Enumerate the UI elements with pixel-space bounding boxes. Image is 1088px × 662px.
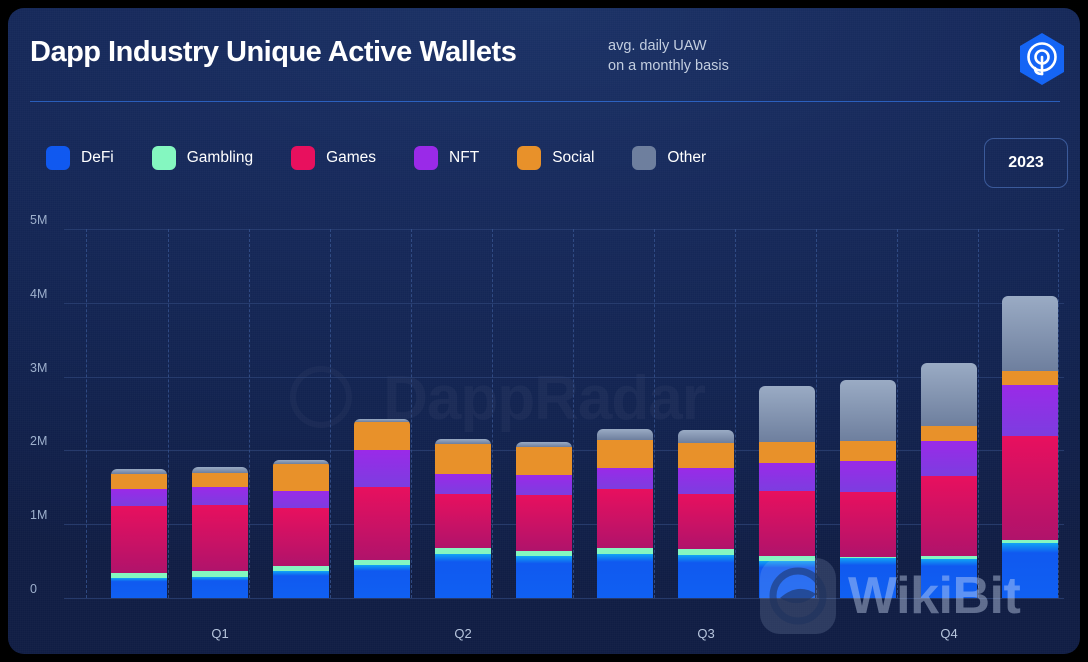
bar-segment-games — [435, 494, 491, 548]
bar-segment-defi — [597, 554, 653, 598]
legend-swatch-nft — [414, 146, 438, 170]
legend-swatch-other — [632, 146, 656, 170]
x-axis-tick-label-q2: Q2 — [454, 626, 471, 641]
legend-swatch-social — [517, 146, 541, 170]
bar-segment-games — [1002, 436, 1058, 540]
bar-segment-social — [354, 422, 410, 449]
gridline-vertical — [330, 229, 331, 598]
bar-mar[interactable] — [273, 460, 329, 598]
bar-segment-other — [759, 386, 815, 442]
dappradar-hexagon-logo-icon — [1013, 30, 1071, 88]
bar-may[interactable] — [435, 439, 491, 598]
gridline-horizontal — [64, 303, 1064, 304]
bar-segment-social — [273, 464, 329, 491]
bar-oct[interactable] — [840, 380, 896, 598]
y-axis-tick-label: 3M — [30, 361, 47, 375]
legend-label-gambling: Gambling — [187, 149, 253, 167]
legend-item-social[interactable]: Social — [517, 146, 594, 170]
bar-segment-games — [678, 494, 734, 549]
gridline-vertical — [411, 229, 412, 598]
bar-segment-social — [678, 443, 734, 468]
y-axis-tick-label: 4M — [30, 287, 47, 301]
bar-jan[interactable] — [111, 469, 167, 598]
chart-legend: DeFi Gambling Games NFT Social Other — [46, 146, 744, 170]
gridline-vertical — [1058, 229, 1059, 598]
gridline-vertical — [573, 229, 574, 598]
x-axis-tick-label-q3: Q3 — [697, 626, 714, 641]
bar-segment-other — [678, 430, 734, 443]
gridline-vertical — [654, 229, 655, 598]
bar-segment-social — [759, 442, 815, 463]
bar-aug[interactable] — [678, 430, 734, 598]
bar-segment-social — [597, 440, 653, 468]
legend-item-other[interactable]: Other — [632, 146, 706, 170]
x-axis-tick-label-q4: Q4 — [940, 626, 957, 641]
gridline-horizontal — [64, 598, 1064, 599]
gridline-vertical — [249, 229, 250, 598]
subtitle-line-2: on a monthly basis — [608, 56, 729, 76]
bar-segment-nft — [678, 468, 734, 494]
bar-segment-social — [840, 441, 896, 462]
chart-plot-area: 01M2M3M4M5MQ1Q2Q3Q4 — [8, 208, 1080, 654]
bar-segment-games — [516, 495, 572, 551]
gridline-vertical — [735, 229, 736, 598]
bar-segment-social — [921, 426, 977, 441]
y-axis-tick-label: 0 — [30, 582, 37, 596]
legend-item-gambling[interactable]: Gambling — [152, 146, 253, 170]
gridline-vertical — [897, 229, 898, 598]
x-axis-tick-label-q1: Q1 — [211, 626, 228, 641]
bar-segment-nft — [435, 474, 491, 494]
bar-dec[interactable] — [1002, 296, 1058, 598]
bar-segment-defi — [516, 556, 572, 598]
bar-segment-defi — [840, 558, 896, 598]
bar-segment-social — [192, 473, 248, 488]
bar-segment-social — [111, 474, 167, 489]
bar-nov[interactable] — [921, 363, 977, 598]
bar-segment-defi — [273, 571, 329, 598]
bar-segment-games — [921, 476, 977, 556]
bar-segment-nft — [840, 461, 896, 491]
bar-segment-games — [759, 491, 815, 556]
bar-jul[interactable] — [597, 429, 653, 598]
bar-segment-defi — [192, 577, 248, 598]
bar-segment-gambling — [678, 549, 734, 556]
chart-subtitle: avg. daily UAW on a monthly basis — [608, 36, 729, 76]
bar-segment-games — [597, 489, 653, 548]
bar-segment-social — [516, 447, 572, 475]
legend-swatch-defi — [46, 146, 70, 170]
bar-segment-nft — [921, 441, 977, 476]
bar-segment-nft — [111, 489, 167, 507]
subtitle-line-1: avg. daily UAW — [608, 36, 729, 56]
bar-segment-nft — [192, 487, 248, 505]
bar-segment-social — [435, 444, 491, 474]
legend-item-defi[interactable]: DeFi — [46, 146, 114, 170]
bar-apr[interactable] — [354, 419, 410, 598]
bar-jun[interactable] — [516, 442, 572, 598]
bar-segment-defi — [354, 565, 410, 598]
bar-feb[interactable] — [192, 467, 248, 598]
bar-segment-games — [111, 506, 167, 572]
bar-segment-nft — [354, 450, 410, 487]
bar-segment-nft — [759, 463, 815, 491]
legend-item-games[interactable]: Games — [291, 146, 376, 170]
bar-segment-other — [597, 429, 653, 440]
header-divider — [30, 101, 1060, 102]
gridline-vertical — [86, 229, 87, 598]
bar-segment-nft — [1002, 385, 1058, 436]
bar-segment-defi — [435, 554, 491, 598]
gridline-vertical — [978, 229, 979, 598]
bar-segment-games — [192, 505, 248, 571]
legend-swatch-gambling — [152, 146, 176, 170]
gridline-vertical — [168, 229, 169, 598]
legend-label-games: Games — [326, 149, 376, 167]
y-axis-tick-label: 5M — [30, 213, 47, 227]
year-filter-label: 2023 — [1008, 154, 1044, 172]
year-filter-button[interactable]: 2023 — [984, 138, 1068, 188]
bar-segment-nft — [516, 475, 572, 494]
bar-segment-defi — [1002, 543, 1058, 598]
gridline-vertical — [492, 229, 493, 598]
y-axis-tick-label: 1M — [30, 508, 47, 522]
chart-card: DappRadar Dapp Industry Unique Active Wa… — [8, 8, 1080, 654]
bar-segment-other — [921, 363, 977, 426]
bar-segment-defi — [759, 561, 815, 598]
bar-segment-defi — [678, 555, 734, 598]
legend-item-nft[interactable]: NFT — [414, 146, 479, 170]
bar-segment-defi — [921, 559, 977, 598]
legend-label-other: Other — [667, 149, 706, 167]
legend-label-defi: DeFi — [81, 149, 114, 167]
bar-segment-nft — [597, 468, 653, 489]
bar-segment-social — [1002, 371, 1058, 385]
bar-segment-games — [840, 492, 896, 557]
gridline-vertical — [816, 229, 817, 598]
legend-swatch-games — [291, 146, 315, 170]
bar-segment-nft — [273, 491, 329, 508]
y-axis-tick-label: 2M — [30, 434, 47, 448]
gridline-horizontal — [64, 377, 1064, 378]
gridline-horizontal — [64, 229, 1064, 230]
legend-label-social: Social — [552, 149, 594, 167]
page-title: Dapp Industry Unique Active Wallets — [30, 36, 516, 69]
bar-segment-games — [273, 508, 329, 566]
bar-segment-games — [354, 487, 410, 560]
bar-segment-defi — [111, 578, 167, 598]
bar-segment-other — [1002, 296, 1058, 371]
bar-sep[interactable] — [759, 386, 815, 598]
legend-label-nft: NFT — [449, 149, 479, 167]
bar-segment-other — [840, 380, 896, 441]
